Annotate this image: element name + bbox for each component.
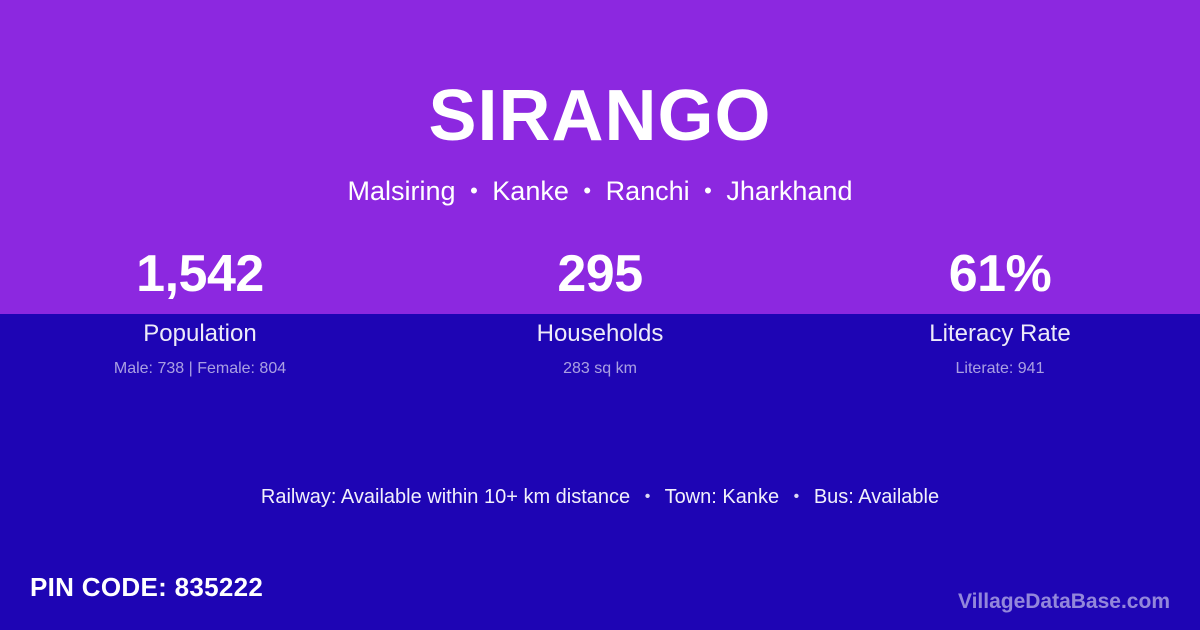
breadcrumb-item-panchayat: Malsiring xyxy=(348,176,456,206)
stat-population: 1,542 Population Male: 738 | Female: 804 xyxy=(0,248,400,377)
stat-sublabel: Literate: 941 xyxy=(956,361,1045,377)
stat-label: Population xyxy=(143,322,256,346)
page-title: SIRANGO xyxy=(428,80,771,152)
amenities-line: Railway: Available within 10+ km distanc… xyxy=(0,487,1200,507)
amenity-railway: Railway: Available within 10+ km distanc… xyxy=(261,486,630,508)
stat-value: 1,542 xyxy=(136,248,264,300)
stat-households: 295 Households 283 sq km xyxy=(400,248,800,377)
brand-watermark: VillageDataBase.com xyxy=(958,591,1170,622)
stat-sublabel: Male: 738 | Female: 804 xyxy=(114,361,286,377)
stat-value: 61% xyxy=(949,248,1052,300)
stats-row: 1,542 Population Male: 738 | Female: 804… xyxy=(0,248,1200,377)
stat-literacy-rate: 61% Literacy Rate Literate: 941 xyxy=(800,248,1200,377)
village-info-card: SIRANGO Malsiring • Kanke • Ranchi • Jha… xyxy=(0,0,1200,630)
amenity-separator: • xyxy=(785,488,809,505)
amenity-separator: • xyxy=(636,488,660,505)
breadcrumb-separator: • xyxy=(576,178,598,203)
stat-label: Households xyxy=(537,322,664,346)
breadcrumb-separator: • xyxy=(697,178,719,203)
stat-sublabel: 283 sq km xyxy=(563,361,637,377)
card-footer: PIN CODE: 835222 VillageDataBase.com xyxy=(0,552,1200,630)
stat-label: Literacy Rate xyxy=(929,322,1070,346)
stat-value: 295 xyxy=(557,248,642,300)
breadcrumb-item-block: Kanke xyxy=(492,176,569,206)
pin-code: PIN CODE: 835222 xyxy=(30,574,263,600)
amenity-bus: Bus: Available xyxy=(814,486,939,508)
amenity-town: Town: Kanke xyxy=(665,486,780,508)
breadcrumb: Malsiring • Kanke • Ranchi • Jharkhand xyxy=(348,178,853,205)
breadcrumb-item-state: Jharkhand xyxy=(726,176,852,206)
card-header: SIRANGO Malsiring • Kanke • Ranchi • Jha… xyxy=(0,0,1200,240)
breadcrumb-separator: • xyxy=(463,178,485,203)
breadcrumb-item-district: Ranchi xyxy=(606,176,690,206)
